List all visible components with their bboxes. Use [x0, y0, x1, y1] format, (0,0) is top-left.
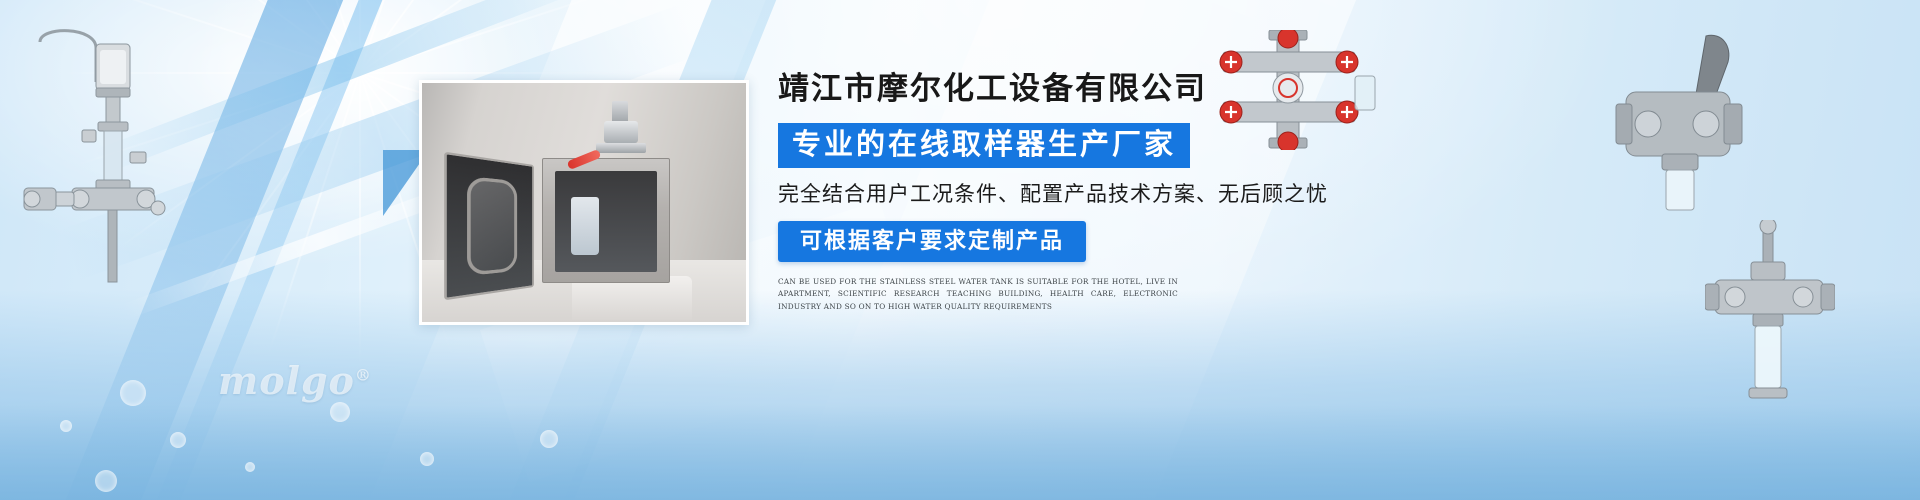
bubble-decoration	[330, 402, 350, 422]
banner-text-block: 靖江市摩尔化工设备有限公司 专业的在线取样器生产厂家 完全结合用户工况条件、配置…	[778, 70, 1398, 314]
banner-subline: 完全结合用户工况条件、配置产品技术方案、无后顾之忧	[778, 181, 1398, 208]
bubble-decoration	[95, 470, 117, 492]
promo-banner: 靖江市摩尔化工设备有限公司 专业的在线取样器生产厂家 完全结合用户工况条件、配置…	[0, 0, 1920, 500]
inline-sampler-valve-icon	[1705, 220, 1835, 405]
bubble-decoration	[60, 420, 72, 432]
bottom-wash-deep	[0, 405, 1920, 500]
company-title: 靖江市摩尔化工设备有限公司	[778, 70, 1398, 109]
bubble-decoration	[120, 380, 146, 406]
bubble-decoration	[540, 430, 558, 448]
bubble-decoration	[170, 432, 186, 448]
watermark-text: molgo	[218, 358, 355, 403]
english-description: CAN BE USED FOR THE STAINLESS STEEL WATE…	[778, 276, 1178, 314]
registered-mark-icon: ®	[355, 365, 372, 384]
slogan-highlight-bar: 专业的在线取样器生产厂家	[778, 123, 1190, 168]
product-photo	[419, 80, 749, 325]
bubble-decoration	[245, 462, 255, 472]
customize-product-button[interactable]: 可根据客户要求定制产品	[778, 221, 1086, 262]
sampling-valve-assembly-icon	[10, 22, 185, 287]
bubble-decoration	[420, 452, 434, 466]
lever-operated-valve-icon	[1610, 30, 1760, 215]
brand-watermark: molgo®	[218, 358, 372, 403]
